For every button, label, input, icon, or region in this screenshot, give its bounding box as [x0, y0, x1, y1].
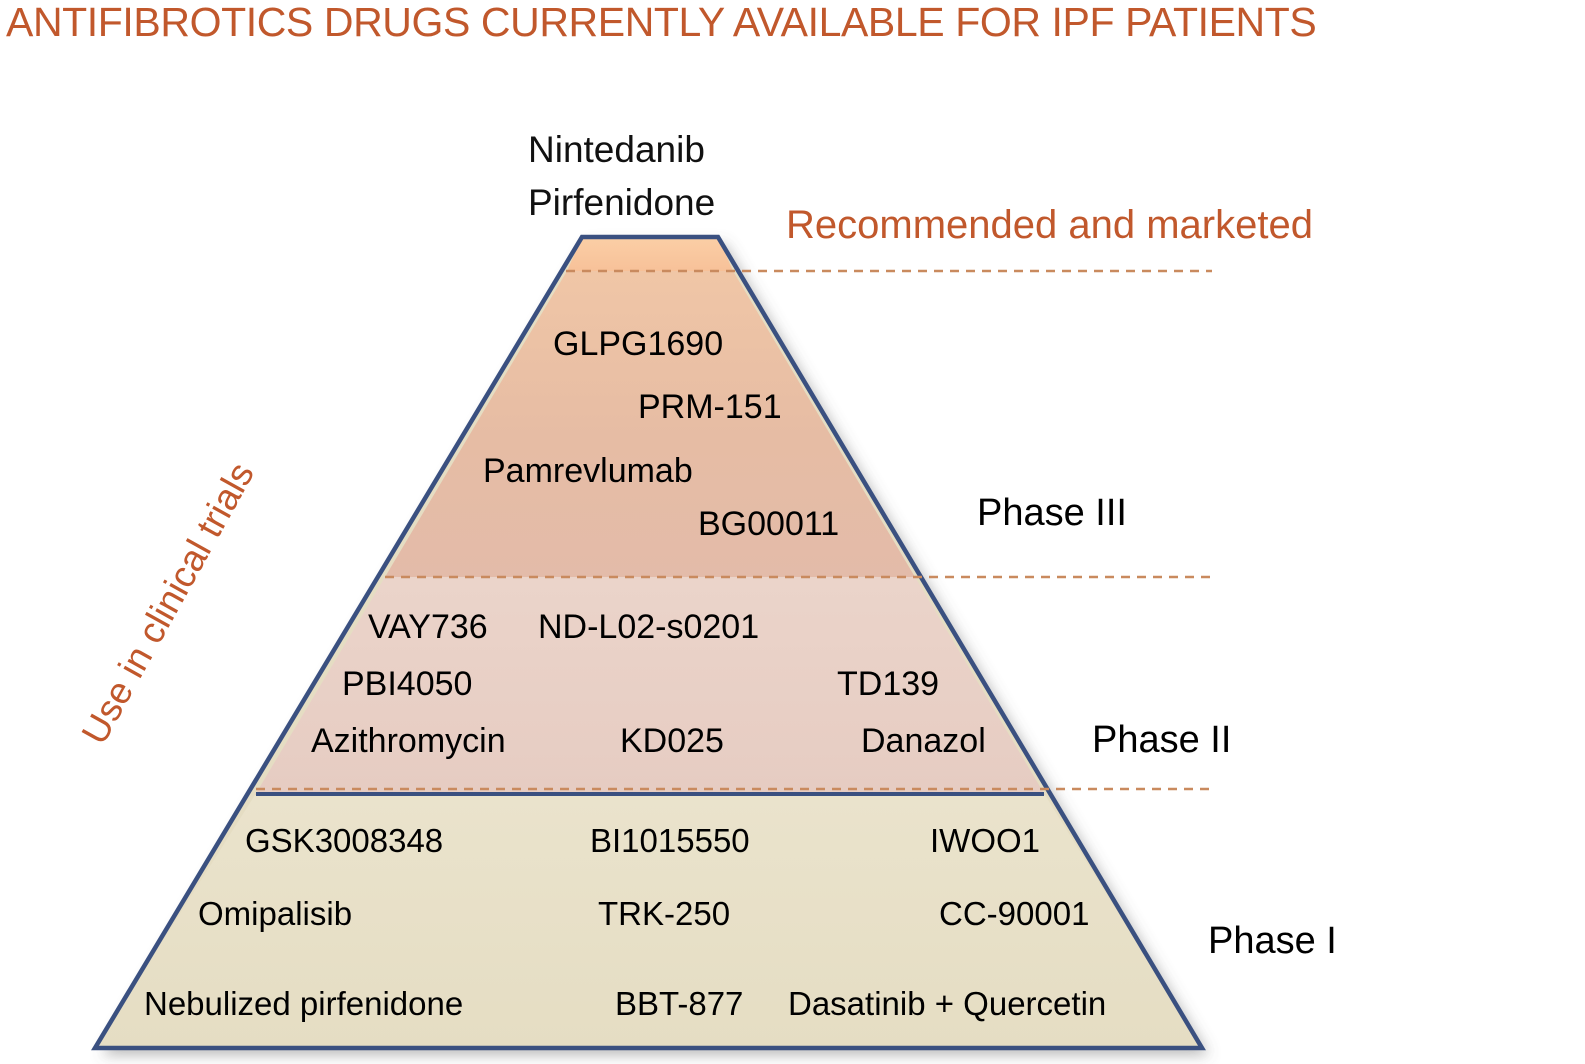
phase1-drug-bi1015550: BI1015550 — [590, 822, 750, 860]
phase2-drug-danazol: Danazol — [861, 722, 986, 761]
phase1-drug-nebulized-pirfenidone: Nebulized pirfenidone — [144, 985, 463, 1023]
phase1-row: Nebulized pirfenidone BBT-877 Dasatinib … — [130, 985, 1140, 1025]
phase1-drug-bbt877: BBT-877 — [615, 985, 743, 1023]
phase3-drug-pamrevlumab: Pamrevlumab — [483, 452, 693, 491]
phase1-drug-cc90001: CC-90001 — [939, 895, 1089, 933]
phase2-drug-pbi4050: PBI4050 — [342, 665, 472, 704]
apex-drug-nintedanib: Nintedanib — [528, 124, 715, 177]
tier-label-phase3: Phase III — [977, 492, 1127, 535]
phase2-drug-td139: TD139 — [837, 665, 939, 704]
phase1-drug-trk250: TRK-250 — [598, 895, 730, 933]
band-marketed — [567, 237, 733, 271]
phase2-row: PBI4050 TD139 — [320, 665, 1020, 705]
phase2-row: VAY736 ND-L02-s0201 — [320, 608, 1020, 648]
phase2-row: Azithromycin KD025 Danazol — [275, 722, 1065, 762]
phase2-drug-ndl02s0201: ND-L02-s0201 — [538, 608, 759, 647]
phase1-drug-omipalisib: Omipalisib — [198, 895, 352, 933]
tier-label-phase1: Phase I — [1208, 920, 1337, 963]
phase1-drug-iwoo1: IWOO1 — [930, 822, 1040, 860]
phase3-drug-prm151: PRM-151 — [638, 388, 782, 427]
apex-drug-list: Nintedanib Pirfenidone — [528, 124, 715, 229]
tier-label-phase2: Phase II — [1092, 719, 1231, 762]
phase1-row: GSK3008348 BI1015550 IWOO1 — [150, 822, 1080, 862]
phase2-drug-vay736: VAY736 — [368, 608, 488, 647]
phase1-drug-gsk3008348: GSK3008348 — [245, 822, 443, 860]
phase1-row: Omipalisib TRK-250 CC-90001 — [150, 895, 1080, 935]
phase3-drug-glpg1690: GLPG1690 — [553, 325, 723, 364]
phase2-drug-azithromycin: Azithromycin — [311, 722, 506, 761]
apex-drug-pirfenidone: Pirfenidone — [528, 177, 715, 230]
diagram-canvas: ANTIFIBROTICS DRUGS CURRENTLY AVAILABLE … — [0, 0, 1585, 1064]
phase1-drug-dasatinib-quercetin: Dasatinib + Quercetin — [788, 985, 1106, 1023]
phase2-drug-kd025: KD025 — [620, 722, 724, 761]
tier-label-recommended: Recommended and marketed — [786, 203, 1313, 248]
phase3-drug-bg00011: BG00011 — [698, 505, 839, 544]
